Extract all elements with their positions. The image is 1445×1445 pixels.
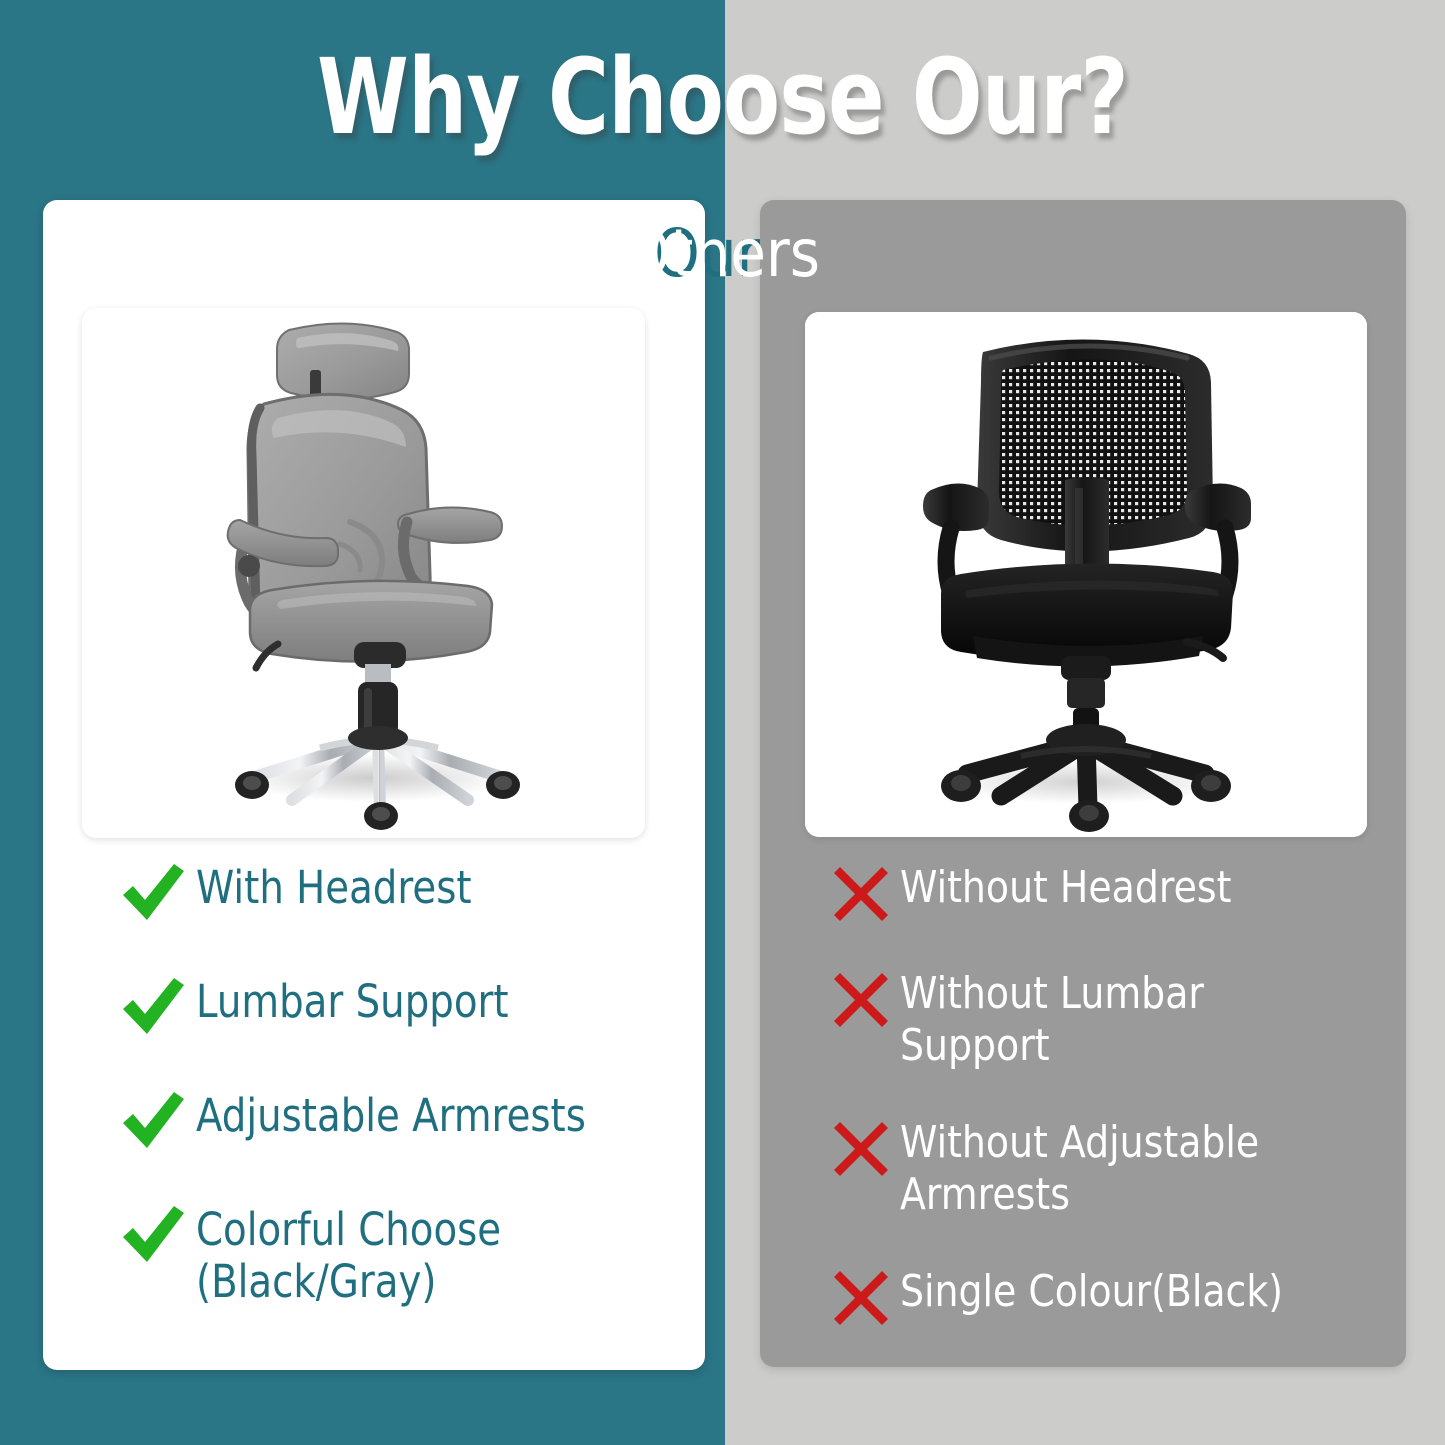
cross-icon [832,1269,890,1327]
cross-icon [832,1120,890,1178]
feature-label: Without Adjustable Armrests [900,1117,1259,1221]
feature-row: Without Headrest [832,862,1402,923]
others-heading: Others [87,218,1359,290]
feature-row: Without Adjustable Armrests [832,1117,1402,1221]
feature-row: Lumbar Support [118,976,698,1038]
check-icon [118,1204,188,1266]
gray-office-chair-illustration [82,308,645,838]
others-feature-list: Without Headrest Without Lumbar Support … [832,862,1402,1327]
feature-row: Without Lumbar Support [832,968,1402,1072]
feature-label: Colorful Choose (Black/Gray) [196,1204,501,1308]
ours-product-image [82,308,645,838]
feature-label: Adjustable Armrests [196,1090,586,1142]
cross-icon [832,865,890,923]
ours-feature-list: With Headrest Lumbar Support Adjustable … [118,862,698,1308]
feature-label: Without Lumbar Support [900,968,1332,1072]
check-icon [118,862,188,924]
feature-label: With Headrest [196,862,472,914]
feature-row: With Headrest [118,862,698,924]
feature-label: Lumbar Support [196,976,509,1028]
check-icon [118,976,188,1038]
check-icon [118,1090,188,1152]
page-title: Why Choose Our? [145,42,1301,152]
feature-row: Single Colour(Black) [832,1266,1402,1327]
feature-row: Colorful Choose (Black/Gray) [118,1204,698,1308]
feature-row: Adjustable Armrests [118,1090,698,1152]
feature-label: Single Colour(Black) [900,1266,1283,1318]
infographic-canvas: Why Choose Our? Ours [0,0,1445,1445]
black-office-chair-illustration [805,312,1367,837]
cross-icon [832,971,890,1029]
feature-label: Without Headrest [900,862,1231,914]
others-product-image [805,312,1367,837]
